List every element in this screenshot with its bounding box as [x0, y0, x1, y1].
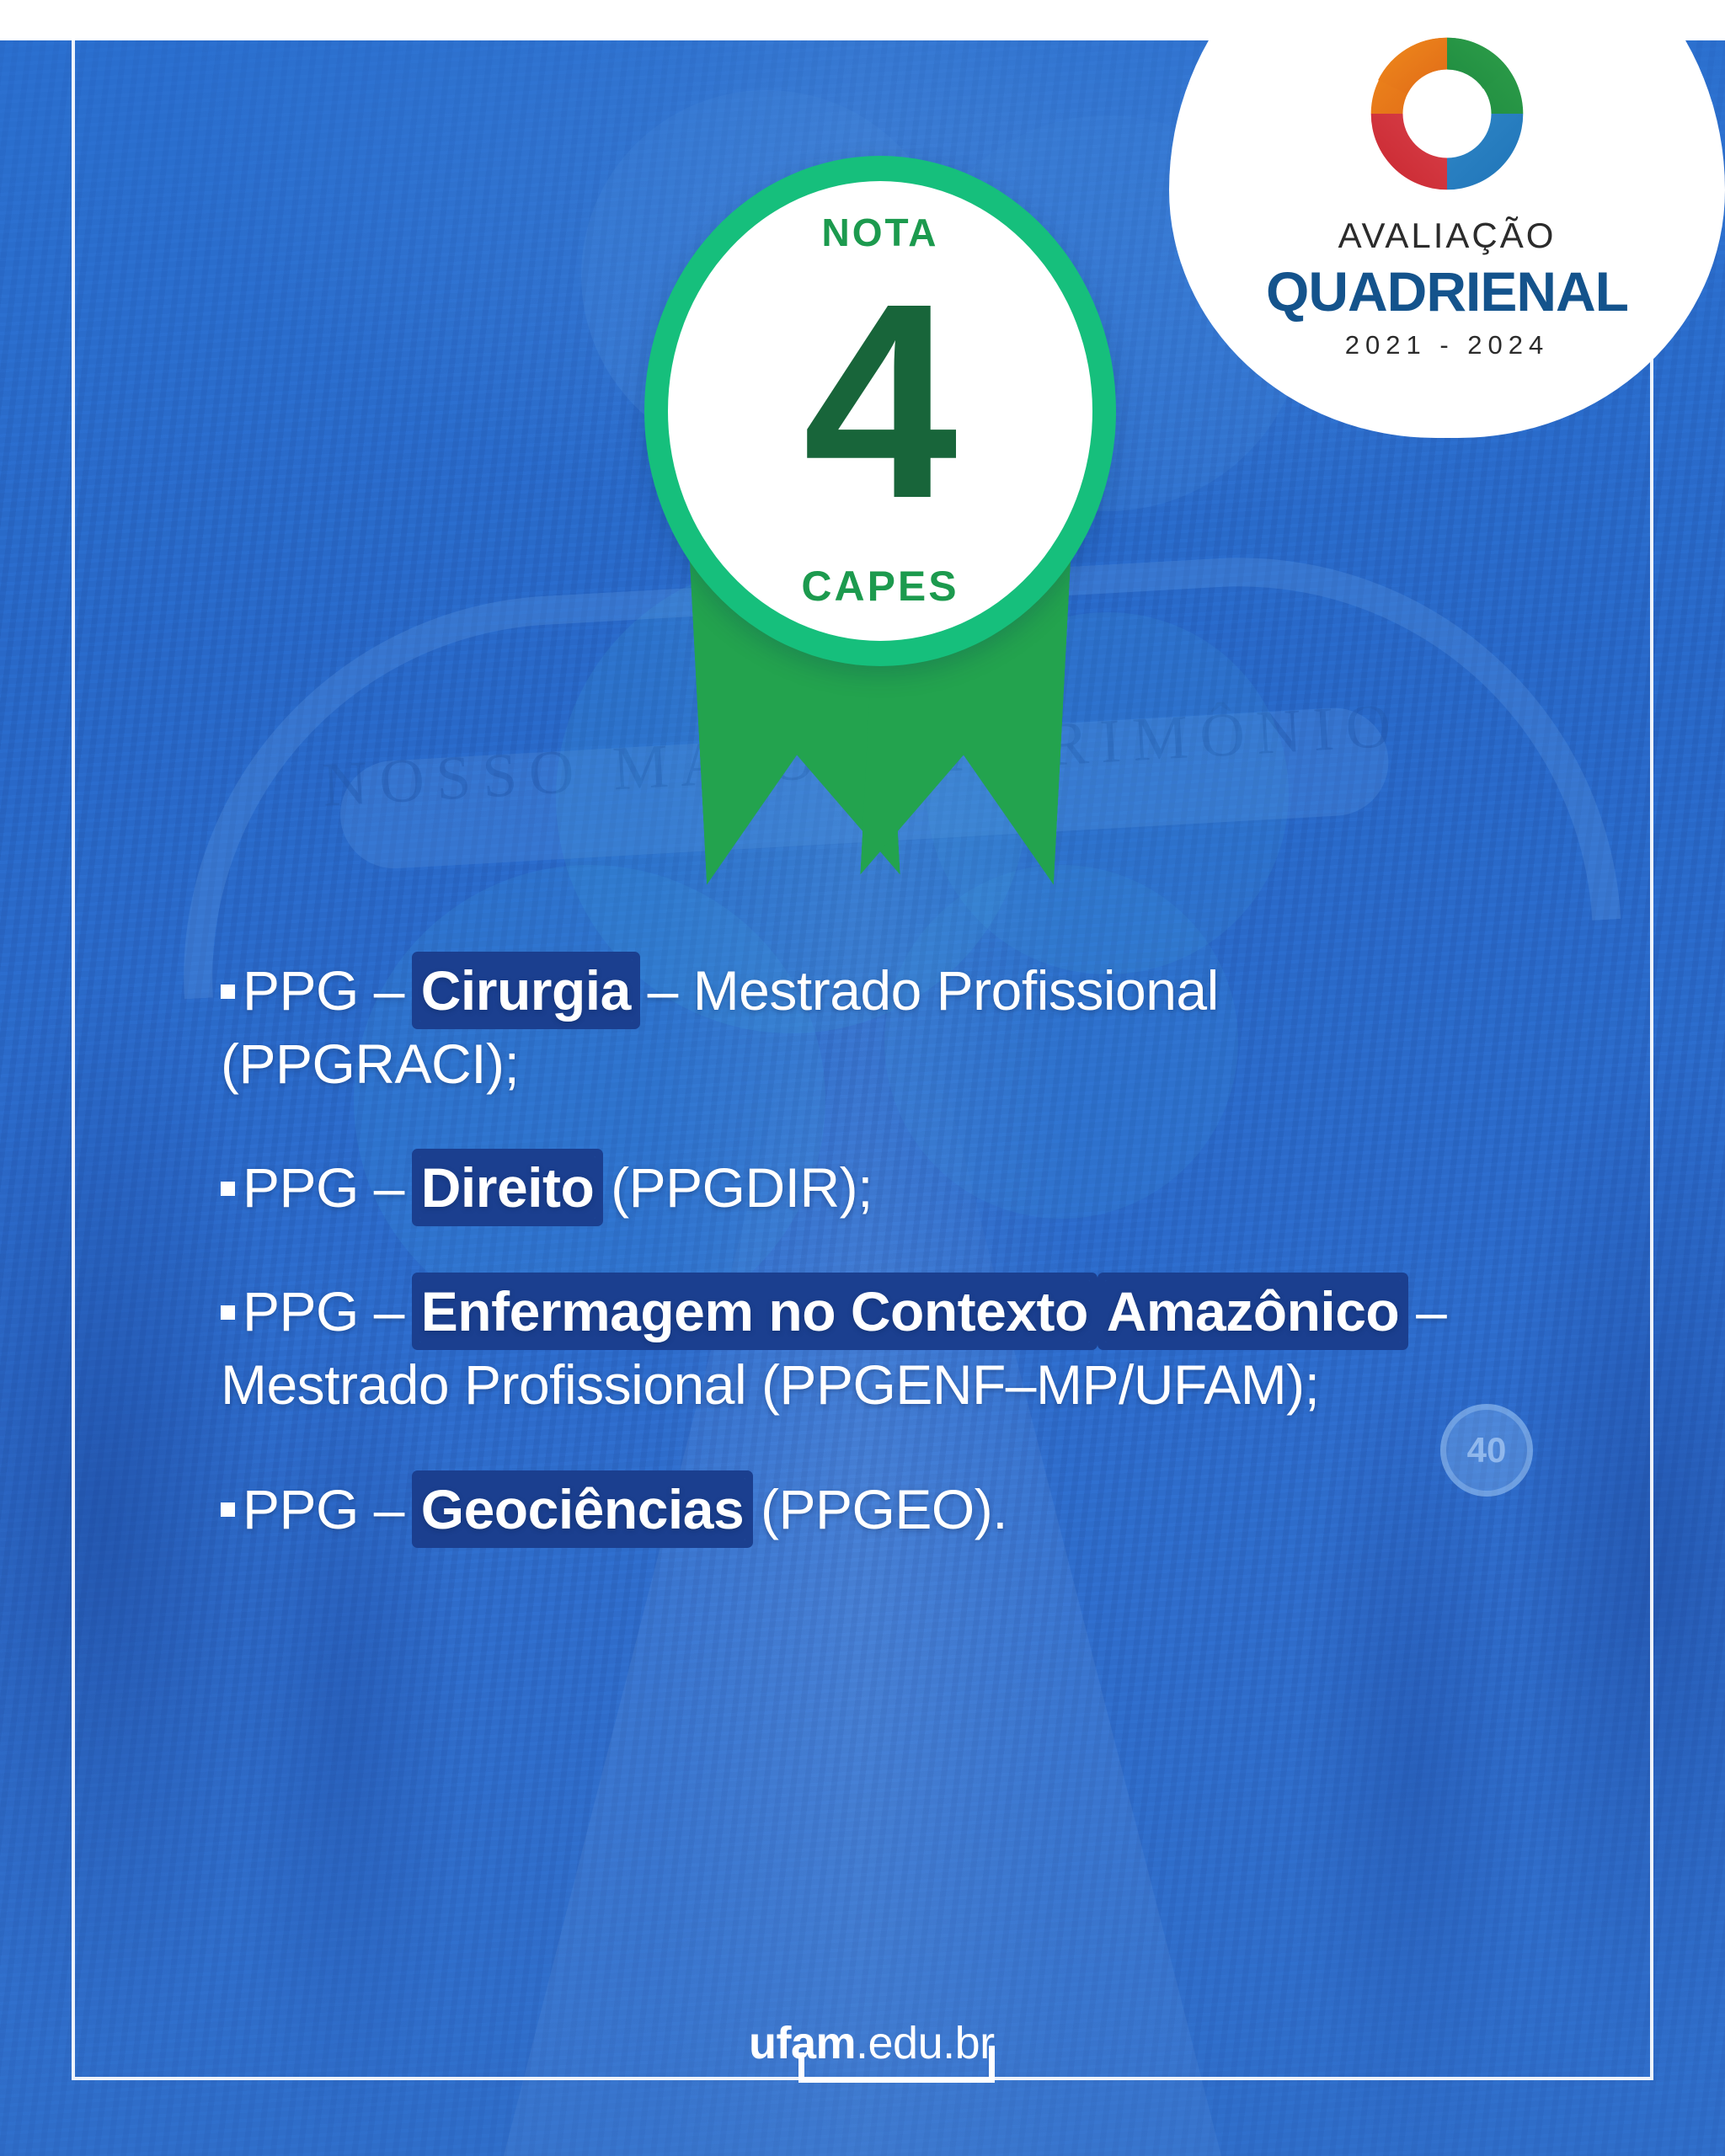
badge-disc: NOTA 4 CAPES	[644, 156, 1116, 666]
interlocking-ring-logo-icon	[1359, 25, 1535, 202]
program-prefix: PPG –	[243, 1280, 419, 1342]
capes-grade-badge: NOTA 4 CAPES	[644, 156, 1116, 889]
period-label: 2021 - 2024	[1345, 330, 1549, 360]
bullet-icon	[221, 1305, 235, 1320]
program-prefix: PPG –	[243, 1478, 419, 1540]
list-item: PPG – Geociências (PPGEO).	[221, 1473, 1467, 1546]
program-prefix: PPG –	[243, 1156, 419, 1219]
program-highlight: Direito	[419, 1156, 596, 1219]
bullet-icon	[221, 985, 235, 999]
avaliacao-label: AVALIAÇÃO	[1338, 216, 1557, 256]
badge-face: NOTA 4 CAPES	[668, 181, 1092, 641]
badge-bottom-label: CAPES	[801, 562, 959, 611]
quadrienal-label: QUADRIENAL	[1266, 259, 1628, 323]
program-highlight: Enfermagem no Contexto	[419, 1280, 1090, 1342]
ufam-footer-logo[interactable]: ufam.edu.br	[724, 2017, 1001, 2110]
program-list: PPG – Cirurgia – Mestrado Profissional (…	[221, 954, 1467, 1546]
list-item: PPG – Enfermagem no Contexto Amazônico –…	[221, 1275, 1467, 1422]
poster: NOSSO MAIOR PATRIMÔNIO 40	[0, 0, 1725, 2156]
program-suffix: (PPGDIR);	[595, 1156, 873, 1219]
list-item: PPG – Cirurgia – Mestrado Profissional (…	[221, 954, 1467, 1101]
program-suffix: (PPGEO).	[745, 1478, 1007, 1540]
badge-grade-value: 4	[803, 292, 958, 509]
program-highlight: Cirurgia	[419, 959, 633, 1022]
program-highlight: Geociências	[419, 1478, 745, 1540]
bullet-icon	[221, 1502, 235, 1517]
program-prefix: PPG –	[243, 959, 419, 1022]
list-item: PPG – Direito (PPGDIR);	[221, 1151, 1467, 1225]
ufam-bracket	[804, 2046, 995, 2083]
bullet-icon	[221, 1182, 235, 1196]
program-highlight-2: Amazônico	[1105, 1280, 1402, 1342]
